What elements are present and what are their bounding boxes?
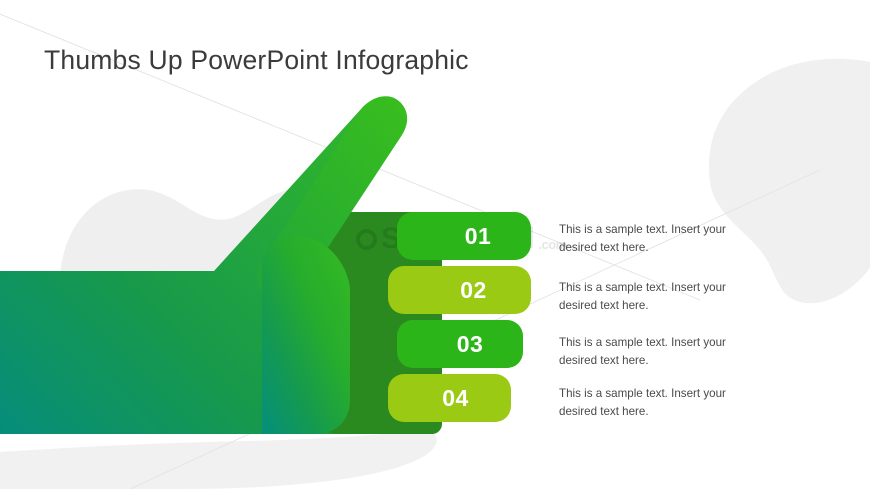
step-badge-02[interactable]: 02 [388,266,531,314]
step-description-03: This is a sample text. Insert your desir… [559,334,741,369]
step-number-04: 04 [442,385,469,412]
step-badge-01[interactable]: 01 [397,212,531,260]
step-number-02: 02 [460,277,487,304]
step-badge-03[interactable]: 03 [397,320,523,368]
slide-canvas: SlideModel .com Thumbs Up PowerPoint Inf… [0,0,870,489]
step-description-01: This is a sample text. Insert your desir… [559,221,741,256]
step-description-04: This is a sample text. Insert your desir… [559,385,741,420]
step-description-02: This is a sample text. Insert your desir… [559,279,741,314]
step-badge-04[interactable]: 04 [388,374,511,422]
step-number-03: 03 [457,331,484,358]
watermark-ring-icon [356,229,377,250]
step-number-01: 01 [465,223,492,250]
page-title: Thumbs Up PowerPoint Infographic [44,45,469,76]
hand-thumb-base [262,236,350,434]
